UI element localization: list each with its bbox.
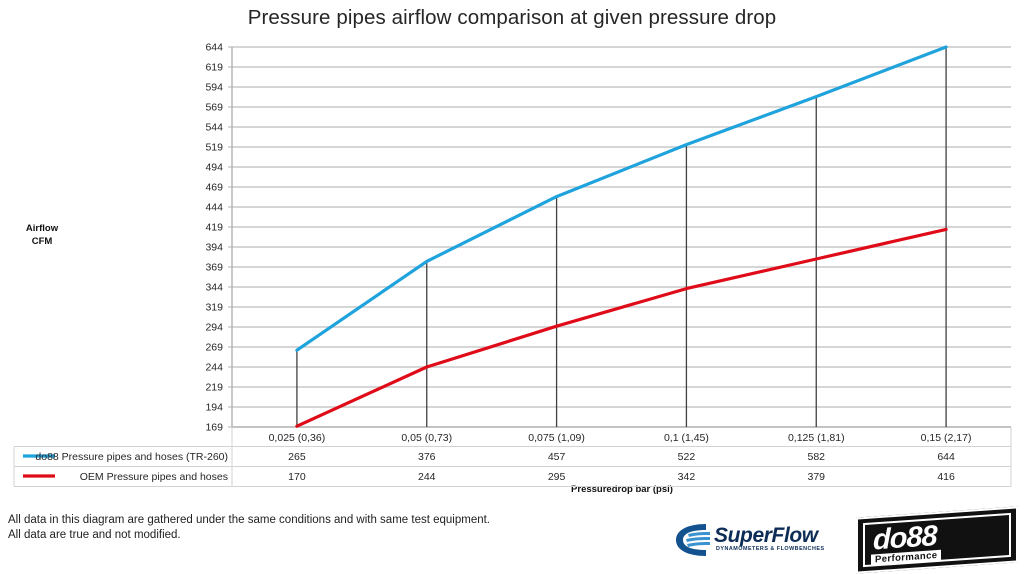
y-axis-tick-label: 369 (205, 262, 223, 274)
x-axis-category-label: 0,125 (1,81) (788, 432, 845, 444)
x-axis-category-label: 0,05 (0,73) (401, 432, 452, 444)
y-axis-tick-label: 344 (205, 282, 223, 294)
y-axis-tick-label: 644 (205, 42, 223, 54)
table-cell-value: 644 (937, 451, 955, 463)
table-cell-value: 244 (418, 471, 436, 483)
y-axis-tick-label: 619 (205, 62, 223, 74)
y-axis-tick-label: 519 (205, 142, 223, 154)
plot-area: 1691942192442692943193443693944194444694… (0, 0, 1024, 574)
y-axis-tick-label: 319 (205, 302, 223, 314)
superflow-logo: SuperFlow DYNAMOMETERS & FLOWBENCHES (672, 518, 837, 562)
table-cell-value: 376 (418, 451, 436, 463)
do88-logo: do88 Performance (856, 506, 1018, 573)
x-axis-category-label: 0,1 (1,45) (664, 432, 709, 444)
do88-logo-inner-border: do88 Performance (863, 513, 1011, 567)
chart-root: Pressure pipes airflow comparison at giv… (0, 0, 1024, 574)
footnote-line-2: All data are true and not modified. (8, 528, 490, 543)
table-cell-value: 265 (288, 451, 306, 463)
table-cell-value: 170 (288, 471, 306, 483)
superflow-tagline: DYNAMOMETERS & FLOWBENCHES (716, 546, 825, 552)
y-axis-tick-label: 269 (205, 342, 223, 354)
y-axis-tick-label: 494 (205, 162, 223, 174)
superflow-wordmark: SuperFlow (714, 524, 818, 548)
table-cell-value: 522 (678, 451, 696, 463)
y-axis-tick-label: 444 (205, 202, 223, 214)
superflow-mark-icon (672, 520, 712, 560)
footnote: All data in this diagram are gathered un… (8, 513, 490, 543)
table-cell-value: 295 (548, 471, 566, 483)
y-axis-tick-label: 594 (205, 82, 223, 94)
x-axis-category-label: 0,025 (0,36) (269, 432, 326, 444)
y-axis-tick-label: 194 (205, 402, 223, 414)
y-axis-tick-label: 569 (205, 102, 223, 114)
footnote-line-1: All data in this diagram are gathered un… (8, 513, 490, 528)
legend-label-1: do88 Pressure pipes and hoses (TR-260) (35, 451, 228, 463)
legend-label-2: OEM Pressure pipes and hoses (80, 471, 228, 483)
table-cell-value: 342 (678, 471, 696, 483)
y-axis-tick-label: 169 (205, 422, 223, 434)
table-cell-value: 582 (807, 451, 825, 463)
table-cell-value: 457 (548, 451, 566, 463)
y-axis-tick-label: 244 (205, 362, 223, 374)
series-line-1 (297, 47, 946, 350)
table-cell-value: 379 (807, 471, 825, 483)
y-axis-tick-label: 294 (205, 322, 223, 334)
x-axis-category-label: 0,15 (2,17) (921, 432, 972, 444)
y-axis-tick-label: 394 (205, 242, 223, 254)
logo-group: SuperFlow DYNAMOMETERS & FLOWBENCHES do8… (672, 512, 1018, 568)
y-axis-tick-label: 419 (205, 222, 223, 234)
y-axis-tick-label: 469 (205, 182, 223, 194)
table-cell-value: 416 (937, 471, 955, 483)
x-axis-category-label: 0,075 (1,09) (528, 432, 585, 444)
y-axis-tick-label: 544 (205, 122, 223, 134)
y-axis-tick-label: 219 (205, 382, 223, 394)
